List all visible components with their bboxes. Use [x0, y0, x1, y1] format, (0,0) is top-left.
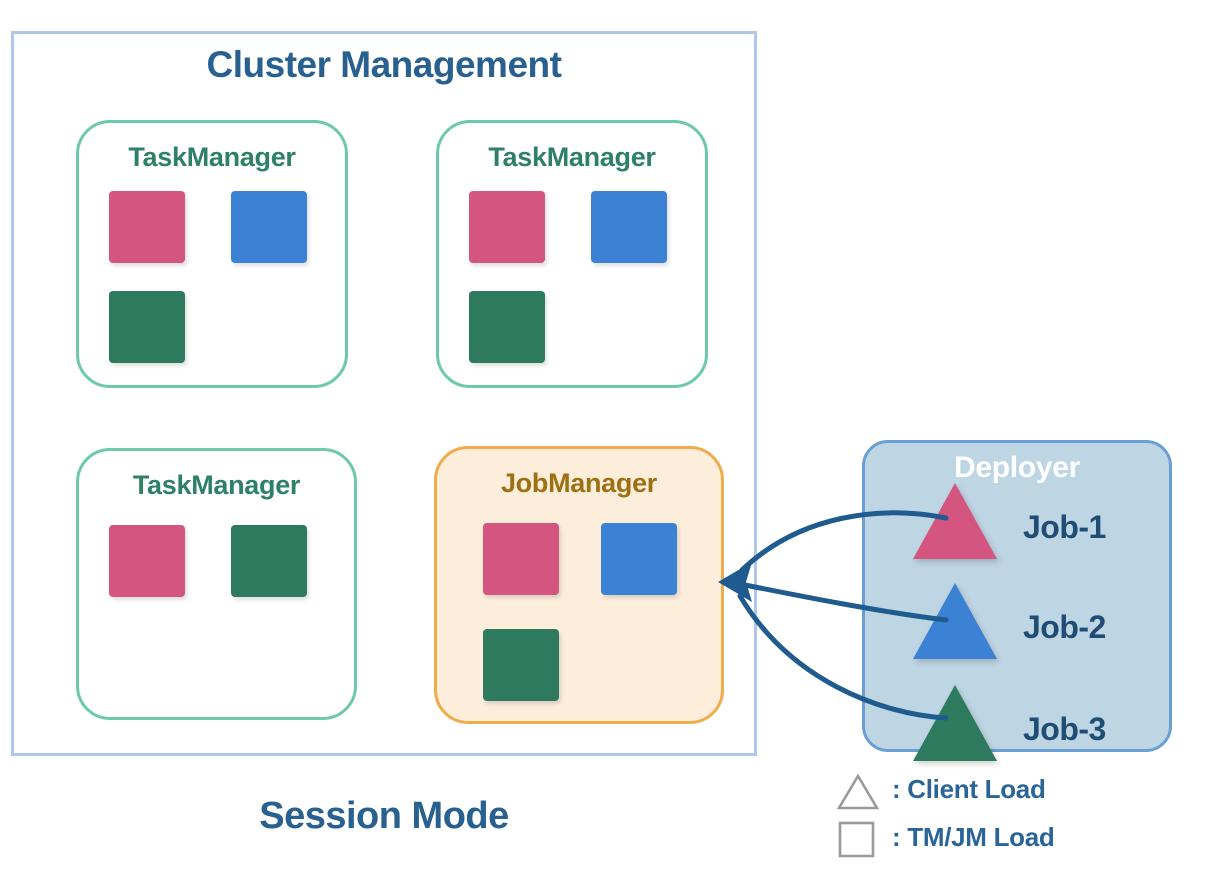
diagram-canvas: Cluster Management TaskManager TaskManag…: [0, 0, 1214, 882]
job-row-2: Job-2: [895, 583, 1155, 667]
load-square-blue: [601, 523, 677, 595]
session-mode-caption: Session Mode: [11, 795, 757, 838]
load-square-green: [109, 291, 185, 363]
load-square-pink: [483, 523, 559, 595]
jobmanager-card: JobManager: [434, 446, 724, 724]
cluster-management-title: Cluster Management: [11, 44, 757, 86]
load-square-pink: [109, 525, 185, 597]
jobmanager-card-title: JobManager: [437, 468, 721, 499]
legend-row-client-load: : Client Load: [836, 770, 1206, 818]
deployer-title: Deployer: [865, 451, 1169, 485]
load-square-green: [483, 629, 559, 701]
legend-row-tm-jm-load: : TM/JM Load: [836, 818, 1206, 866]
taskmanager-card-3-title: TaskManager: [79, 470, 354, 501]
legend: : Client Load : TM/JM Load: [836, 770, 1206, 866]
load-square-blue: [231, 191, 307, 263]
deployer-panel: Deployer Job-1 Job-2 Job-3: [862, 440, 1172, 752]
taskmanager-card-1-title: TaskManager: [79, 142, 345, 173]
triangle-icon-job-1: [913, 483, 997, 559]
load-square-blue: [591, 191, 667, 263]
taskmanager-card-2: TaskManager: [436, 120, 708, 388]
job-2-label: Job-2: [1023, 609, 1106, 646]
load-square-green: [231, 525, 307, 597]
job-row-1: Job-1: [895, 483, 1155, 567]
job-row-3: Job-3: [895, 685, 1155, 769]
triangle-icon-job-3: [913, 685, 997, 761]
triangle-icon-job-2: [913, 583, 997, 659]
legend-label-client-load: : Client Load: [892, 774, 1046, 805]
load-square-pink: [109, 191, 185, 263]
load-square-pink: [469, 191, 545, 263]
square-icon: [836, 820, 880, 860]
triangle-icon: [836, 772, 880, 812]
job-3-label: Job-3: [1023, 711, 1106, 748]
job-1-label: Job-1: [1023, 509, 1106, 546]
taskmanager-card-3: TaskManager: [76, 448, 357, 720]
taskmanager-card-1: TaskManager: [76, 120, 348, 388]
legend-label-tm-jm-load: : TM/JM Load: [892, 822, 1055, 853]
taskmanager-card-2-title: TaskManager: [439, 142, 705, 173]
load-square-green: [469, 291, 545, 363]
